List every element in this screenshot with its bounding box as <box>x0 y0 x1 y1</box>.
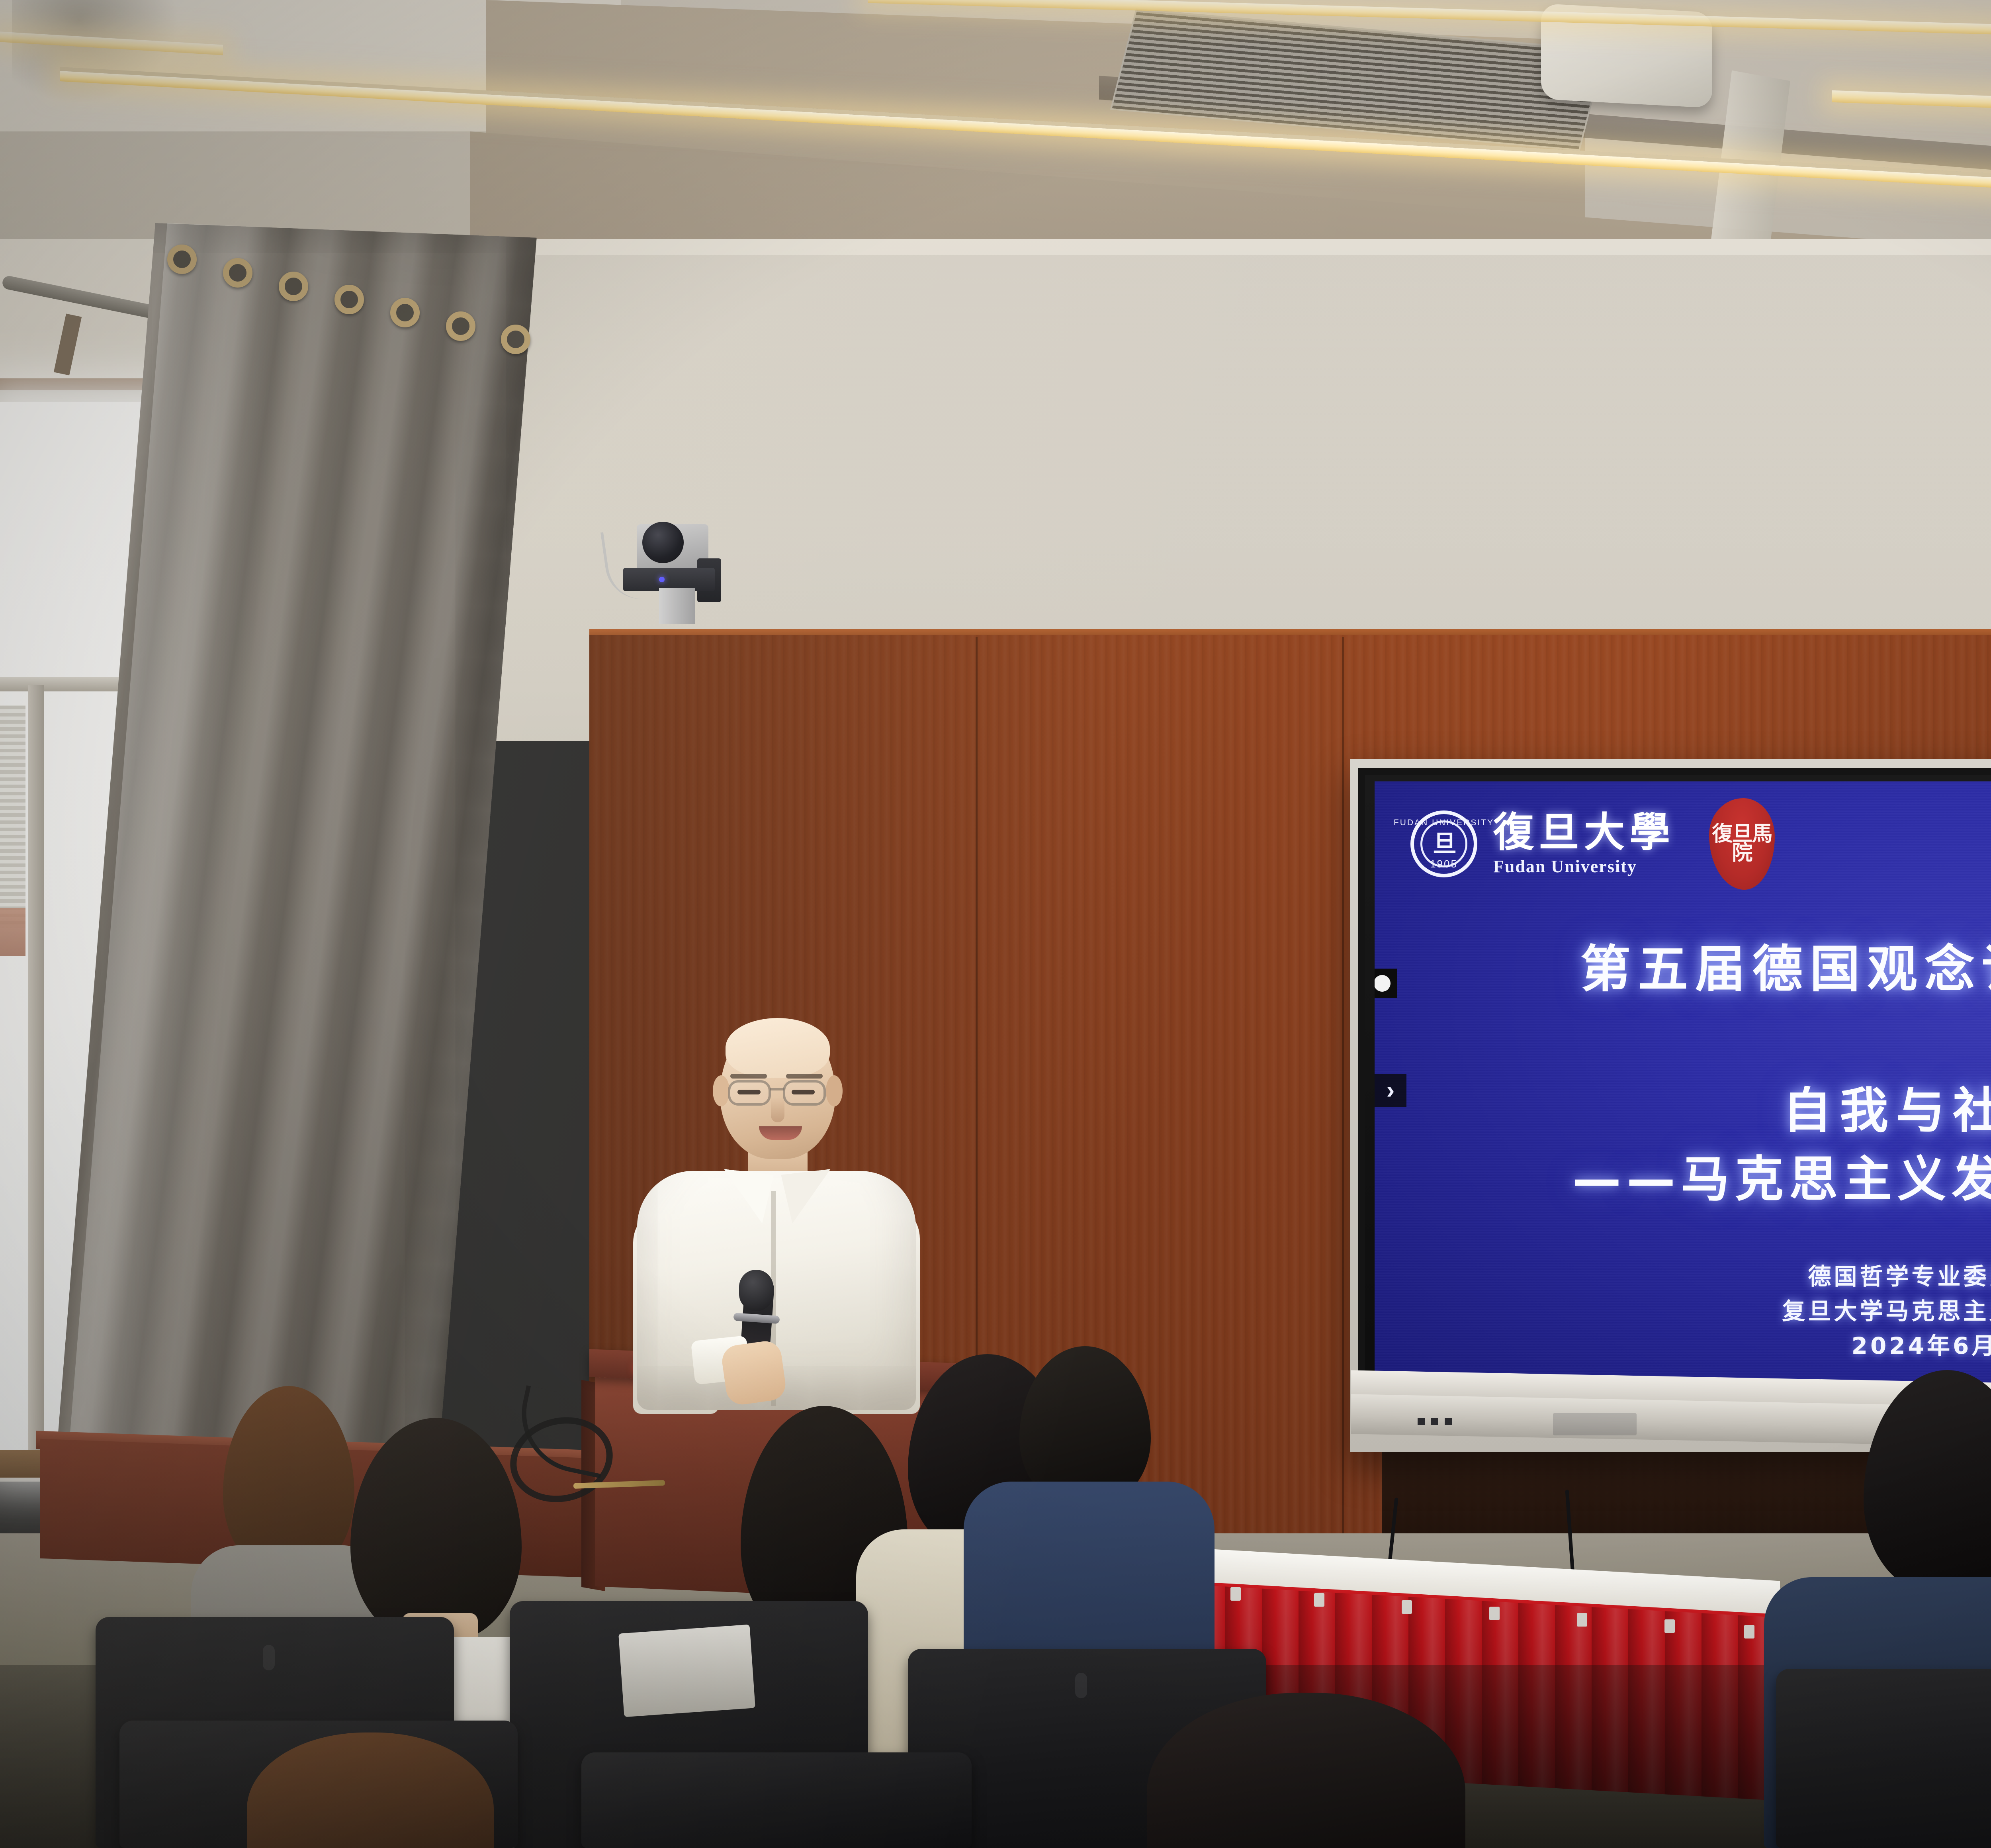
seat-handle <box>263 1645 275 1670</box>
slide-footer-line: 德国哲学专业委员会 <box>1375 1259 1991 1294</box>
microphone-capsule <box>739 1270 773 1311</box>
seat-handle <box>1075 1673 1087 1698</box>
glasses-icon <box>783 1080 826 1106</box>
display-control-buttons[interactable] <box>1418 1418 1461 1425</box>
ptz-conference-camera <box>619 518 739 617</box>
speaker-ear-left <box>713 1075 730 1106</box>
lecture-hall-photo: FUDAN UNIVERSITY 旦 1905 復旦大學 Fudan Unive… <box>0 0 1991 1848</box>
chevron-right-icon[interactable]: › <box>1375 1074 1406 1107</box>
seal-ring-top-text: FUDAN UNIVERSITY <box>1394 818 1494 828</box>
speaker-hand <box>720 1339 787 1406</box>
presentation-screen[interactable]: FUDAN UNIVERSITY 旦 1905 復旦大學 Fudan Unive… <box>1375 781 1991 1397</box>
open-laptop[interactable] <box>618 1625 755 1717</box>
cloth-clip <box>1230 1587 1241 1601</box>
auditorium-seat[interactable] <box>1776 1669 1991 1848</box>
curtain-grommet-icon <box>167 245 197 274</box>
upper-wall-shadow <box>478 255 1991 693</box>
fudan-seal-logo-icon: FUDAN UNIVERSITY 旦 1905 <box>1410 810 1477 877</box>
fudan-name-en: Fudan University <box>1493 856 1675 877</box>
speaker-ear-right <box>826 1075 843 1106</box>
cloth-clip <box>1314 1593 1324 1607</box>
auditorium-seat[interactable] <box>581 1752 972 1848</box>
ceiling-cable <box>1593 0 1595 14</box>
cloth-clip <box>1402 1600 1412 1614</box>
cloth-clip <box>1489 1607 1500 1620</box>
seal-ring-bottom-text: 1905 <box>1430 858 1458 870</box>
slide-logo-row: FUDAN UNIVERSITY 旦 1905 復旦大學 Fudan Unive… <box>1410 798 1775 890</box>
curtain-grommet-icon <box>279 272 308 301</box>
slide-title: 第五届德国观念论青年论坛 <box>1375 929 1991 1001</box>
fudan-name-cn: 復旦大學 <box>1493 811 1675 854</box>
display-button[interactable] <box>1445 1418 1452 1425</box>
speaker-at-podium <box>633 1020 920 1398</box>
curtain-grommet-icon <box>334 285 364 314</box>
speaker-eyebrow-right <box>786 1074 823 1079</box>
window-exterior-building <box>0 908 25 956</box>
seal-stamp-text: 復旦馬院 <box>1709 825 1775 863</box>
display-brand-mark <box>1553 1413 1637 1435</box>
slide-content: FUDAN UNIVERSITY 旦 1905 復旦大學 Fudan Unive… <box>1375 781 1991 1397</box>
slide-footer-line: 复旦大学马克思主义学院 <box>1375 1294 1991 1329</box>
slide-subtitle-line2: ——马克思主义发展史的视域 <box>1375 1140 1991 1210</box>
camera-lens-icon <box>642 522 684 563</box>
slide-footer: 德国哲学专业委员会 复旦大学马克思主义学院 2024年6月 <box>1375 1259 1991 1363</box>
curtain-grommet-icon <box>390 298 420 327</box>
ceiling-stain <box>12 0 179 104</box>
slide-footer-line: 2024年6月 <box>1375 1329 1991 1363</box>
marxism-school-seal-icon: 復旦馬院 <box>1709 798 1775 890</box>
camera-stem <box>659 588 695 624</box>
display-button[interactable] <box>1418 1418 1425 1425</box>
curtain-grommet-icon <box>501 325 530 354</box>
speaker-nose <box>771 1098 784 1122</box>
speaker-scalp <box>726 1018 830 1078</box>
speaker-eyebrow-left <box>730 1074 767 1079</box>
display-button[interactable] <box>1431 1418 1438 1425</box>
speaker-mouth <box>759 1126 802 1140</box>
camera-status-led <box>659 577 665 582</box>
cloth-clip <box>1577 1613 1587 1627</box>
glasses-icon <box>728 1080 771 1106</box>
cloth-clip <box>1744 1625 1754 1639</box>
glasses-bridge <box>770 1088 784 1090</box>
window-mullion-vertical <box>28 685 44 1462</box>
slide-subtitle-line1: 自我与社会 <box>1375 1071 1991 1142</box>
window-blind <box>0 705 25 928</box>
curtain-grommet-icon <box>223 258 252 288</box>
cloth-clip <box>1664 1619 1675 1633</box>
curtain-grommet-icon <box>446 311 475 341</box>
fudan-wordmark: 復旦大學 Fudan University <box>1493 811 1675 877</box>
